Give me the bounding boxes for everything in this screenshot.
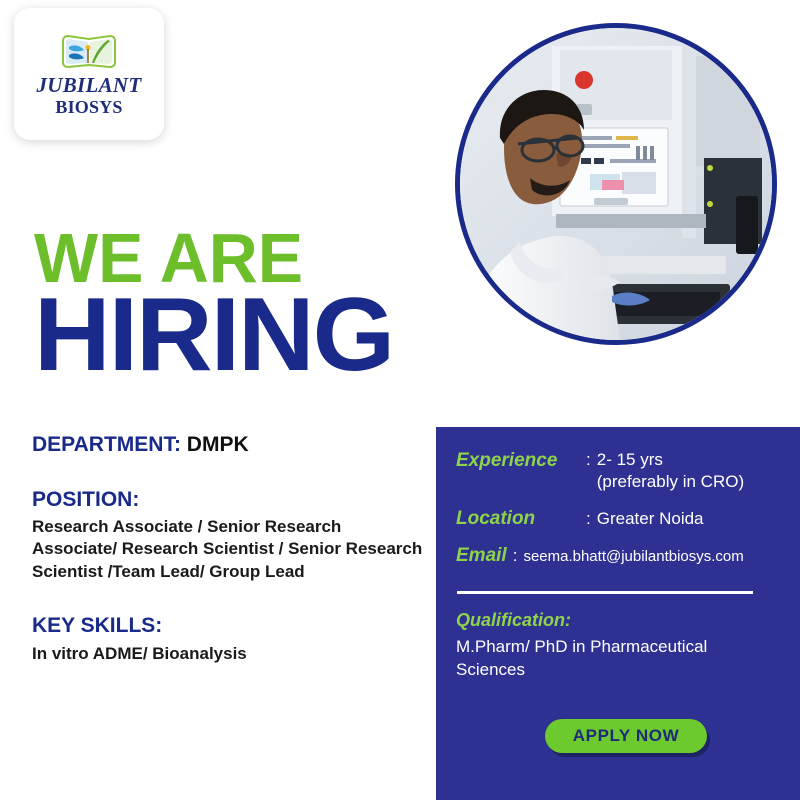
- qualification-block: Qualification: M.Pharm/ PhD in Pharmaceu…: [456, 609, 776, 682]
- apply-now-button[interactable]: APPLY NOW: [545, 719, 707, 753]
- email-value[interactable]: seema.bhatt@jubilantbiosys.com: [523, 547, 743, 567]
- position-label: POSITION:: [32, 487, 424, 512]
- email-label: Email: [456, 544, 507, 568]
- jubilant-butterfly-leaf-logo-icon: [58, 33, 120, 73]
- position-value: Research Associate / Senior Research Ass…: [32, 516, 424, 582]
- location-value: Greater Noida: [597, 508, 704, 530]
- qualification-value: M.Pharm/ PhD in Pharmaceutical Sciences: [456, 636, 776, 681]
- department-heading: DEPARTMENT: DMPK: [32, 432, 424, 457]
- lab-scientist-photo: [455, 23, 777, 345]
- experience-label: Experience: [456, 449, 580, 473]
- location-label: Location: [456, 507, 580, 531]
- qualification-label: Qualification:: [456, 609, 776, 632]
- job-info-panel: Experience : 2- 15 yrs (preferably in CR…: [436, 427, 800, 800]
- page-title: WE ARE HIRING: [34, 226, 454, 382]
- experience-colon: :: [580, 449, 597, 471]
- key-skills-label: KEY SKILLS:: [32, 613, 424, 638]
- experience-row: Experience : 2- 15 yrs (preferably in CR…: [456, 449, 744, 494]
- lab-scientist-photo-illustration: [460, 28, 772, 340]
- email-row: Email : seema.bhatt@jubilantbiosys.com: [456, 544, 744, 568]
- logo-text-biosys: BIOSYS: [36, 98, 141, 116]
- email-colon: :: [507, 545, 524, 567]
- location-row: Location : Greater Noida: [456, 507, 704, 531]
- hiring-poster: JUBILANT BIOSYS: [0, 0, 800, 800]
- panel-divider: [457, 591, 753, 594]
- department-label: DEPARTMENT:: [32, 433, 181, 456]
- job-details-left: DEPARTMENT: DMPK POSITION: Research Asso…: [32, 432, 424, 665]
- company-logo-wordmark: JUBILANT BIOSYS: [36, 75, 141, 116]
- company-logo-card: JUBILANT BIOSYS: [14, 8, 164, 140]
- experience-value: 2- 15 yrs (preferably in CRO): [597, 449, 744, 494]
- department-value: DMPK: [187, 433, 249, 456]
- logo-text-jubilant: JUBILANT: [36, 75, 141, 96]
- key-skills-value: In vitro ADME/ Bioanalysis: [32, 643, 424, 665]
- location-colon: :: [580, 508, 597, 530]
- headline-hiring: HIRING: [34, 290, 462, 382]
